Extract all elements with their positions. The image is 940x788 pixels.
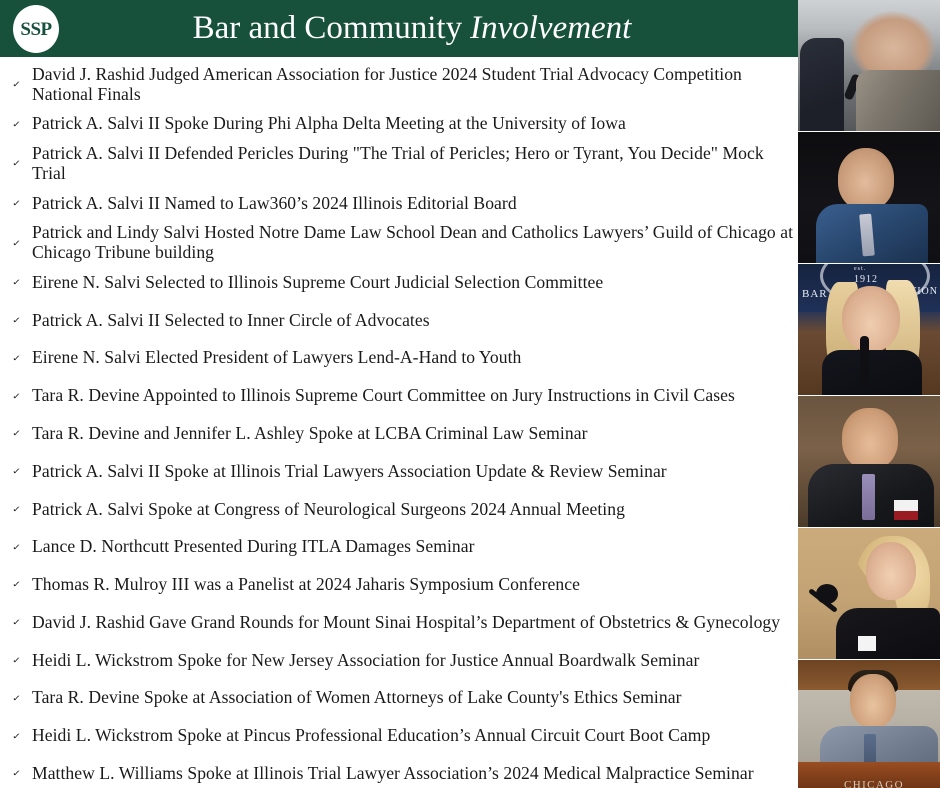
list-item: ✓Patrick A. Salvi II Named to Law360’s 2… xyxy=(0,185,793,223)
checkmark-icon: ✓ xyxy=(12,199,32,208)
name-badge-shape xyxy=(858,636,876,651)
page-title: Bar and Community Involvement xyxy=(0,0,798,57)
list-item: ✓Patrick A. Salvi II Spoke During Phi Al… xyxy=(0,105,793,143)
list-item-label: Heidi L. Wickstrom Spoke for New Jersey … xyxy=(32,651,793,671)
list-item: ✓Tara R. Devine and Jennifer L. Ashley S… xyxy=(0,415,793,453)
podium-lettering: CHICAGO xyxy=(844,779,904,788)
list-item-label: Patrick A. Salvi II Defended Pericles Du… xyxy=(32,144,793,183)
microphone-icon xyxy=(860,336,869,386)
backdrop-year-text: 1912 xyxy=(854,274,878,285)
list-item-label: Heidi L. Wickstrom Spoke at Pincus Profe… xyxy=(32,726,793,746)
checkmark-icon: ✓ xyxy=(12,694,32,703)
page-title-italic: Involvement xyxy=(462,12,631,45)
necktie-shape xyxy=(862,474,875,520)
list-item-label: Eirene N. Salvi Selected to Illinois Sup… xyxy=(32,273,793,293)
list-item-label: Lance D. Northcutt Presented During ITLA… xyxy=(32,537,793,557)
checkmark-icon: ✓ xyxy=(12,160,32,169)
photo-woman-at-microphone xyxy=(798,528,940,659)
list-item: ✓Heidi L. Wickstrom Spoke at Pincus Prof… xyxy=(0,717,793,755)
list-item-label: Tara R. Devine and Jennifer L. Ashley Sp… xyxy=(32,424,793,444)
torso-shape xyxy=(836,608,940,659)
list-item: ✓Eirene N. Salvi Selected to Illinois Su… xyxy=(0,264,793,302)
checkmark-icon: ✓ xyxy=(12,354,32,363)
list-item-label: Patrick A. Salvi II Named to Law360’s 20… xyxy=(32,194,793,214)
list-item-label: Patrick A. Salvi II Selected to Inner Ci… xyxy=(32,311,793,331)
name-badge-shape xyxy=(894,500,918,520)
face-shape xyxy=(850,674,896,728)
list-item: ✓Matthew L. Williams Spoke at Illinois T… xyxy=(0,755,793,788)
list-item-label: Thomas R. Mulroy III was a Panelist at 2… xyxy=(32,575,793,595)
list-item-label: Patrick A. Salvi II Spoke During Phi Alp… xyxy=(32,114,793,134)
checkmark-icon: ✓ xyxy=(12,80,32,89)
photo-woman-bar-association: BAR est. 1912 ATION xyxy=(798,264,940,395)
microphone-icon xyxy=(843,73,861,100)
list-item: ✓Patrick A. Salvi II Selected to Inner C… xyxy=(0,302,793,340)
involvement-list: ✓David J. Rashid Judged American Associa… xyxy=(0,64,798,782)
list-item: ✓Eirene N. Salvi Elected President of La… xyxy=(0,339,793,377)
checkmark-icon: ✓ xyxy=(12,392,32,401)
list-item: ✓Lance D. Northcutt Presented During ITL… xyxy=(0,528,793,566)
list-item-label: Eirene N. Salvi Elected President of Law… xyxy=(32,348,793,368)
list-item: ✓David J. Rashid Gave Grand Rounds for M… xyxy=(0,604,793,642)
list-item-label: Matthew L. Williams Spoke at Illinois Tr… xyxy=(32,764,793,784)
slide-bar-and-community-involvement: SSP Bar and Community Involvement ✓David… xyxy=(0,0,940,788)
checkmark-icon: ✓ xyxy=(12,120,32,129)
checkmark-icon: ✓ xyxy=(12,316,32,325)
checkmark-icon: ✓ xyxy=(12,581,32,590)
microphone-icon xyxy=(816,584,838,604)
list-item-label: Tara R. Devine Spoke at Association of W… xyxy=(32,688,793,708)
checkmark-icon: ✓ xyxy=(12,770,32,779)
face-shape xyxy=(866,542,916,600)
list-item: ✓Patrick A. Salvi Spoke at Congress of N… xyxy=(0,490,793,528)
list-item-label: David J. Rashid Judged American Associat… xyxy=(32,65,793,104)
torso-shape xyxy=(822,350,922,395)
checkmark-icon: ✓ xyxy=(12,543,32,552)
list-item-label: Patrick A. Salvi Spoke at Congress of Ne… xyxy=(32,500,793,520)
checkmark-icon: ✓ xyxy=(12,239,32,248)
checkmark-icon: ✓ xyxy=(12,467,32,476)
list-item: ✓Tara R. Devine Appointed to Illinois Su… xyxy=(0,377,793,415)
photo-man-lavender-tie xyxy=(798,396,940,527)
list-item: ✓Patrick A. Salvi II Defended Pericles D… xyxy=(0,143,793,184)
photo-man-at-podium: CHICAGO xyxy=(798,660,940,788)
podium-shape: CHICAGO xyxy=(798,762,940,788)
list-item: ✓Patrick A. Salvi II Spoke at Illinois T… xyxy=(0,453,793,491)
list-item-label: Tara R. Devine Appointed to Illinois Sup… xyxy=(32,386,793,406)
page-title-regular: Bar and Community xyxy=(193,12,462,45)
checkmark-icon: ✓ xyxy=(12,732,32,741)
list-item: ✓Tara R. Devine Spoke at Association of … xyxy=(0,679,793,717)
photo-man-with-microphone xyxy=(798,0,940,131)
backdrop-est-text: est. xyxy=(854,266,866,272)
photo-man-in-blue-suit xyxy=(798,132,940,263)
list-item: ✓Thomas R. Mulroy III was a Panelist at … xyxy=(0,566,793,604)
backdrop-bar-text: BAR xyxy=(802,288,828,300)
list-item: ✓Patrick and Lindy Salvi Hosted Notre Da… xyxy=(0,222,793,263)
necktie-shape xyxy=(859,214,875,257)
slide-header: SSP Bar and Community Involvement xyxy=(0,0,798,57)
list-item-label: Patrick A. Salvi II Spoke at Illinois Tr… xyxy=(32,462,793,482)
checkmark-icon: ✓ xyxy=(12,278,32,287)
photo-column: BAR est. 1912 ATION xyxy=(798,0,940,788)
list-item: ✓Heidi L. Wickstrom Spoke for New Jersey… xyxy=(0,642,793,680)
checkmark-icon: ✓ xyxy=(12,618,32,627)
checkmark-icon: ✓ xyxy=(12,430,32,439)
list-item-label: David J. Rashid Gave Grand Rounds for Mo… xyxy=(32,613,793,633)
necktie-shape xyxy=(868,72,883,113)
checkmark-icon: ✓ xyxy=(12,656,32,665)
list-item-label: Patrick and Lindy Salvi Hosted Notre Dam… xyxy=(32,223,793,262)
face-shape xyxy=(842,286,900,352)
list-item: ✓David J. Rashid Judged American Associa… xyxy=(0,64,793,105)
checkmark-icon: ✓ xyxy=(12,505,32,514)
